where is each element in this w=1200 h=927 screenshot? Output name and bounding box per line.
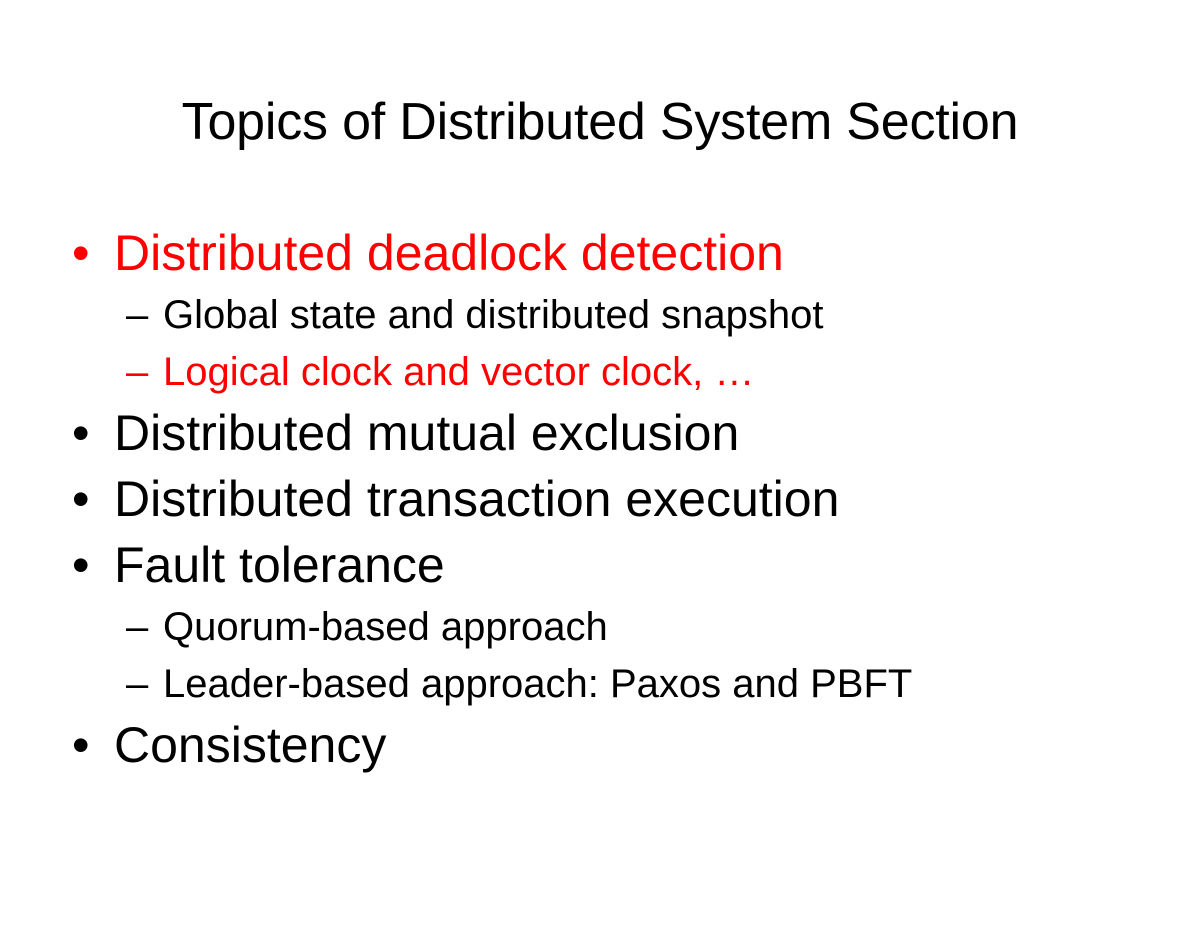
bullet-text: Distributed transaction execution — [114, 468, 839, 530]
bullet-item: •Distributed mutual exclusion — [60, 402, 1150, 468]
dash-marker-icon: – — [126, 657, 163, 711]
bullet-text: Fault tolerance — [114, 534, 445, 596]
bullet-item: •Fault tolerance — [60, 534, 1150, 600]
bullet-text: Quorum-based approach — [163, 600, 608, 654]
bullet-text: Leader-based approach: Paxos and PBFT — [163, 657, 912, 711]
dash-marker-icon: – — [126, 600, 163, 654]
bullet-item: •Consistency — [60, 714, 1150, 780]
bullet-text: Consistency — [114, 714, 386, 776]
bullet-marker-icon: • — [68, 534, 114, 596]
page-title: Topics of Distributed System Section — [60, 92, 1140, 152]
sub-bullet-item: –Quorum-based approach — [60, 600, 1150, 657]
bullet-text: Distributed deadlock detection — [114, 222, 784, 284]
dash-marker-icon: – — [126, 345, 163, 399]
sub-bullet-item: –Global state and distributed snapshot — [60, 288, 1150, 345]
bullet-marker-icon: • — [68, 402, 114, 464]
presentation-slide: Topics of Distributed System Section •Di… — [0, 0, 1200, 927]
bullet-item: •Distributed transaction execution — [60, 468, 1150, 534]
bullet-marker-icon: • — [68, 468, 114, 530]
bullet-marker-icon: • — [68, 222, 114, 284]
slide-body-content: •Distributed deadlock detection–Global s… — [60, 222, 1150, 780]
bullet-text: Logical clock and vector clock, … — [163, 345, 754, 399]
bullet-text: Distributed mutual exclusion — [114, 402, 739, 464]
bullet-item: •Distributed deadlock detection — [60, 222, 1150, 288]
sub-bullet-item: –Leader-based approach: Paxos and PBFT — [60, 657, 1150, 714]
bullet-text: Global state and distributed snapshot — [163, 288, 823, 342]
dash-marker-icon: – — [126, 288, 163, 342]
sub-bullet-item: –Logical clock and vector clock, … — [60, 345, 1150, 402]
bullet-marker-icon: • — [68, 714, 114, 776]
